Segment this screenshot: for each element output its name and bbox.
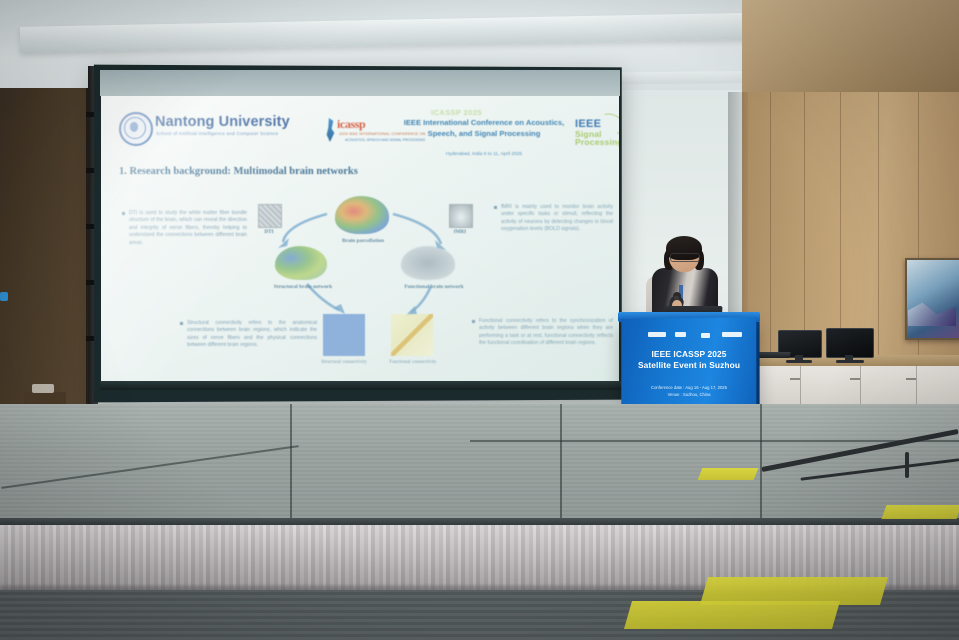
framed-artwork [905,258,959,340]
cable-mat [881,505,959,519]
structural-brain-network-image [275,246,327,280]
podium-date-line-2: Venue : Suzhou, China [640,392,738,397]
podium-logo-sponsor-4 [722,332,742,337]
dti-image [258,204,282,228]
podium-logo-sponsor-2 [675,332,686,337]
podium-logo-sponsor-3 [701,333,710,338]
screen-top-band [100,70,620,96]
functional-brain-network-label: Functional brain network [391,284,477,290]
podium-title-line-2: Satellite Event in Suzhou [627,360,751,370]
fmri-image [449,204,473,228]
left-wood-wall [0,88,92,428]
right-wall-upper [742,0,959,100]
screen-bottom-bar [100,381,622,390]
functional-connectivity-label: Functional connectivity [383,359,443,366]
podium-logo-ieee [648,332,666,337]
presenter-glasses [670,253,700,262]
monitor-base [786,360,812,363]
presentation-slide: Nantong University School of Artificial … [101,96,619,382]
cable-loop [905,452,909,478]
structural-connectivity-label: Structural connectivity [313,359,375,366]
wall-marker [0,292,8,301]
cable-mat [698,468,759,480]
stage-seam [560,404,562,520]
control-monitor-2 [826,328,874,358]
control-keyboard [755,352,790,358]
projection-screen: Nantong University School of Artificial … [101,96,619,382]
stage-carpet-texture [0,404,959,522]
dti-label: DTI [256,229,282,235]
functional-connectivity-matrix-diagonal [391,314,433,356]
stage-seam [290,404,292,520]
fmri-label: fMRI [445,229,475,235]
cable-mat [624,601,840,629]
structural-connectivity-matrix [323,314,365,356]
stage-seam [470,440,959,442]
brain-parcellation-image [335,196,389,234]
podium-title-line-1: IEEE ICASSP 2025 [629,349,749,359]
functional-brain-network-image [401,246,455,280]
conference-room-photo: Nantong University School of Artificial … [0,0,959,640]
brain-parcellation-label: Brain parcellation [327,238,399,244]
structural-brain-network-label: Structural brain network [261,284,345,290]
podium-date-line-1: Conference date : Aug 16 - Aug 17, 2025 [640,385,738,390]
left-wall-paper [32,384,54,393]
stage-seam [760,404,762,520]
monitor-base [836,360,864,363]
